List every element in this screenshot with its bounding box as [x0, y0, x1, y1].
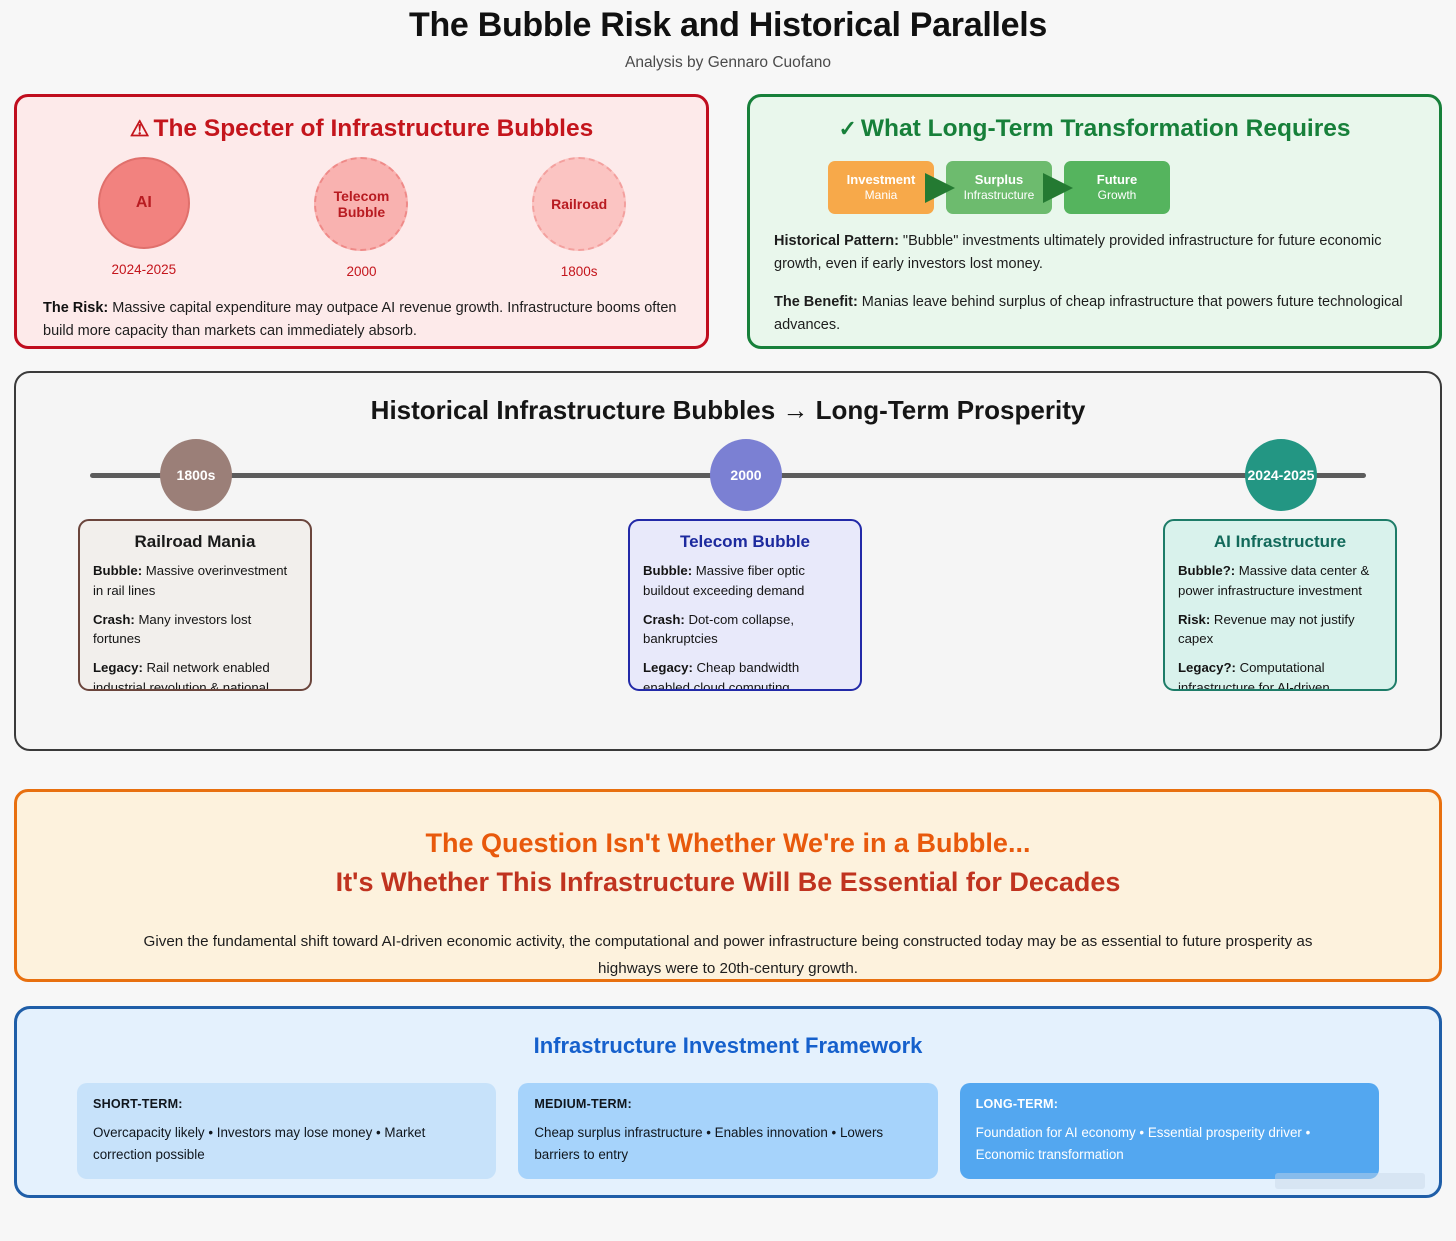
timeline-card-ai-infrastructure: AI Infrastructure Bubble?: Massive data … [1163, 519, 1397, 691]
callout-line-2: It's Whether This Infrastructure Will Be… [73, 863, 1383, 902]
flow-box-investment: Investment Mania [828, 161, 934, 214]
timeline-row-legacy-railroad: Legacy: Rail network enabled industrial … [93, 658, 297, 691]
timeline-card-title-ai: AI Infrastructure [1178, 532, 1382, 552]
label-bubble-telecom: Bubble: [643, 563, 692, 578]
bubble-cell-ai: AI 2024-2025 [64, 157, 224, 277]
framework-cards-row: SHORT-TERM: Overcapacity likely • Invest… [17, 1059, 1439, 1179]
watermark-artifact [1275, 1173, 1425, 1189]
risk-panel-heading: ⚠The Specter of Infrastructure Bubbles [17, 97, 706, 143]
framework-text-medium-term: Cheap surplus infrastructure • Enables i… [534, 1122, 921, 1165]
label-crash-telecom: Crash: [643, 612, 685, 627]
benefit-note: The Benefit: Manias leave behind surplus… [774, 291, 1415, 338]
framework-text-short-term: Overcapacity likely • Investors may lose… [93, 1122, 480, 1165]
page-title: The Bubble Risk and Historical Parallels [0, 0, 1456, 45]
bubble-cell-railroad: Railroad 1800s [499, 157, 659, 279]
callout-body: Given the fundamental shift toward AI-dr… [73, 928, 1383, 982]
label-bubble-railroad: Bubble: [93, 563, 142, 578]
callout-line-1: The Question Isn't Whether We're in a Bu… [73, 824, 1383, 863]
flow-box-surplus-title: Surplus [975, 172, 1023, 188]
framework-label-short-term: SHORT-TERM: [93, 1097, 480, 1111]
timeline-row-legacy-ai: Legacy?: Computational infrastructure fo… [1178, 658, 1382, 691]
warning-triangle-icon: ⚠ [130, 116, 150, 141]
timeline-row-bubble-railroad: Bubble: Massive overinvestment in rail l… [93, 561, 297, 601]
arrow-right-icon-1 [925, 173, 955, 203]
timeline-row-crash-railroad: Crash: Many investors lost fortunes [93, 610, 297, 650]
timeline-node-2024-2025[interactable]: 2024-2025 [1245, 439, 1317, 511]
timeline-node-2000[interactable]: 2000 [710, 439, 782, 511]
risk-panel-heading-text: The Specter of Infrastructure Bubbles [154, 115, 594, 142]
arrow-right-icon-2 [1043, 173, 1073, 203]
framework-card-long-term: LONG-TERM: Foundation for AI economy • E… [960, 1083, 1379, 1179]
flow-box-investment-sub: Mania [865, 188, 898, 203]
framework-title: Infrastructure Investment Framework [17, 1009, 1439, 1059]
risk-note-text: Massive capital expenditure may outpace … [43, 300, 676, 339]
label-risk-ai: Risk: [1178, 612, 1210, 627]
bubble-date-telecom: 2000 [281, 264, 441, 279]
flow-box-surplus-sub: Infrastructure [964, 188, 1035, 203]
flow-box-investment-title: Investment [847, 172, 916, 188]
historical-pattern-label: Historical Pattern: [774, 233, 899, 249]
timeline-row-bubble-telecom: Bubble: Massive fiber optic buildout exc… [643, 561, 847, 601]
label-legacy-telecom: Legacy: [643, 660, 693, 675]
bubble-row: AI 2024-2025 Telecom Bubble 2000 Railroa… [17, 157, 706, 279]
callout-section: The Question Isn't Whether We're in a Bu… [14, 789, 1442, 982]
framework-label-long-term: LONG-TERM: [976, 1097, 1363, 1111]
timeline-row-legacy-telecom: Legacy: Cheap bandwidth enabled cloud co… [643, 658, 847, 691]
bubble-telecom: Telecom Bubble [314, 157, 408, 251]
timeline-node-1800s[interactable]: 1800s [160, 439, 232, 511]
label-legacy-railroad: Legacy: [93, 660, 143, 675]
bubble-railroad: Railroad [532, 157, 626, 251]
check-mark-icon: ✓ [838, 116, 856, 141]
benefit-label: The Benefit: [774, 294, 858, 310]
bubble-cell-telecom: Telecom Bubble 2000 [281, 157, 441, 279]
flow-chart: Investment Mania Surplus Infrastructure … [828, 161, 1439, 214]
framework-card-medium-term: MEDIUM-TERM: Cheap surplus infrastructur… [518, 1083, 937, 1179]
label-legacy-ai: Legacy?: [1178, 660, 1236, 675]
timeline-card-railroad-mania: Railroad Mania Bubble: Massive overinves… [78, 519, 312, 691]
bubble-date-ai: 2024-2025 [64, 262, 224, 277]
transform-panel-heading-text: What Long-Term Transformation Requires [861, 115, 1351, 142]
framework-label-medium-term: MEDIUM-TERM: [534, 1097, 921, 1111]
transform-panel: ✓What Long-Term Transformation Requires … [747, 94, 1442, 349]
page-subtitle: Analysis by Gennaro Cuofano [0, 54, 1456, 72]
historical-pattern-note: Historical Pattern: "Bubble" investments… [774, 230, 1415, 277]
framework-card-short-term: SHORT-TERM: Overcapacity likely • Invest… [77, 1083, 496, 1179]
bubble-ai: AI [98, 157, 190, 249]
timeline-row-crash-telecom: Crash: Dot-com collapse, bankruptcies [643, 610, 847, 650]
timeline-row-risk-ai: Risk: Revenue may not justify capex [1178, 610, 1382, 650]
flow-box-future: Future Growth [1064, 161, 1170, 214]
timeline-card-telecom-bubble: Telecom Bubble Bubble: Massive fiber opt… [628, 519, 862, 691]
risk-note-label: The Risk: [43, 300, 108, 316]
risk-panel: ⚠The Specter of Infrastructure Bubbles A… [14, 94, 709, 349]
risk-note: The Risk: Massive capital expenditure ma… [43, 297, 680, 344]
label-bubble-ai: Bubble?: [1178, 563, 1235, 578]
flow-box-future-sub: Growth [1098, 188, 1137, 203]
timeline-section: Historical Infrastructure Bubbles → Long… [14, 371, 1442, 751]
timeline-title: Historical Infrastructure Bubbles → Long… [16, 373, 1440, 426]
flow-box-surplus: Surplus Infrastructure [946, 161, 1052, 214]
flow-box-future-title: Future [1097, 172, 1137, 188]
bubble-date-railroad: 1800s [499, 264, 659, 279]
label-crash-railroad: Crash: [93, 612, 135, 627]
benefit-text: Manias leave behind surplus of cheap inf… [774, 294, 1403, 333]
framework-text-long-term: Foundation for AI economy • Essential pr… [976, 1122, 1363, 1165]
timeline-row-bubble-ai: Bubble?: Massive data center & power inf… [1178, 561, 1382, 601]
framework-section: Infrastructure Investment Framework SHOR… [14, 1006, 1442, 1198]
timeline-card-title-telecom: Telecom Bubble [643, 532, 847, 552]
transform-panel-heading: ✓What Long-Term Transformation Requires [750, 97, 1439, 143]
top-panels-row: ⚠The Specter of Infrastructure Bubbles A… [0, 72, 1456, 349]
timeline-card-title-railroad: Railroad Mania [93, 532, 297, 552]
